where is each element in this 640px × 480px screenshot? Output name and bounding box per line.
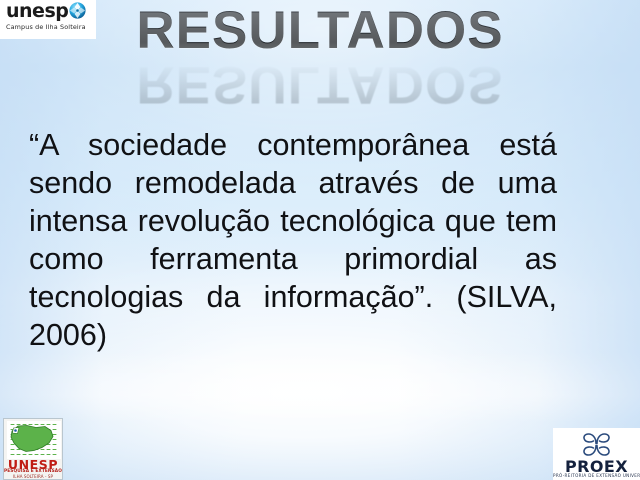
background-sheen-band — [0, 352, 640, 422]
proex-tagline: PRÓ-REITORIA DE EXTENSÃO UNIVERSITÁRIA — [553, 474, 640, 478]
unesp-header-campus-subtitle: Campus de Ilha Solteira — [6, 23, 86, 31]
presentation-slide: RESULTADOS RESULTADOS “A sociedade conte… — [0, 0, 640, 480]
unesp-header-logo: unesp Campus de Ilha Solteira — [0, 0, 96, 39]
page-title-reflection: RESULTADOS — [0, 58, 640, 111]
unesp-footer-tagline-line2: ILHA SOLTEIRA - SP — [4, 475, 62, 479]
quote-block: “A sociedade contemporânea está sendo re… — [29, 126, 557, 354]
quote-text: “A sociedade contemporânea está sendo re… — [29, 126, 557, 354]
unesp-header-logo-row: unesp — [6, 2, 86, 21]
unesp-footer-logo: UNESP PESQUISA E EXTENSÃO ILHA SOLTEIRA … — [3, 418, 63, 480]
page-title: RESULTADOS — [0, 4, 640, 57]
unesp-header-wordmark: unesp — [6, 2, 68, 21]
sao-paulo-state-map-icon — [7, 421, 61, 459]
slide-title-area: RESULTADOS RESULTADOS — [0, 4, 640, 96]
proex-quatrefoil-mark-icon — [581, 430, 612, 459]
unesp-globe-emblem-icon — [69, 2, 86, 19]
proex-logo: PROEX PRÓ-REITORIA DE EXTENSÃO UNIVERSIT… — [553, 428, 640, 480]
